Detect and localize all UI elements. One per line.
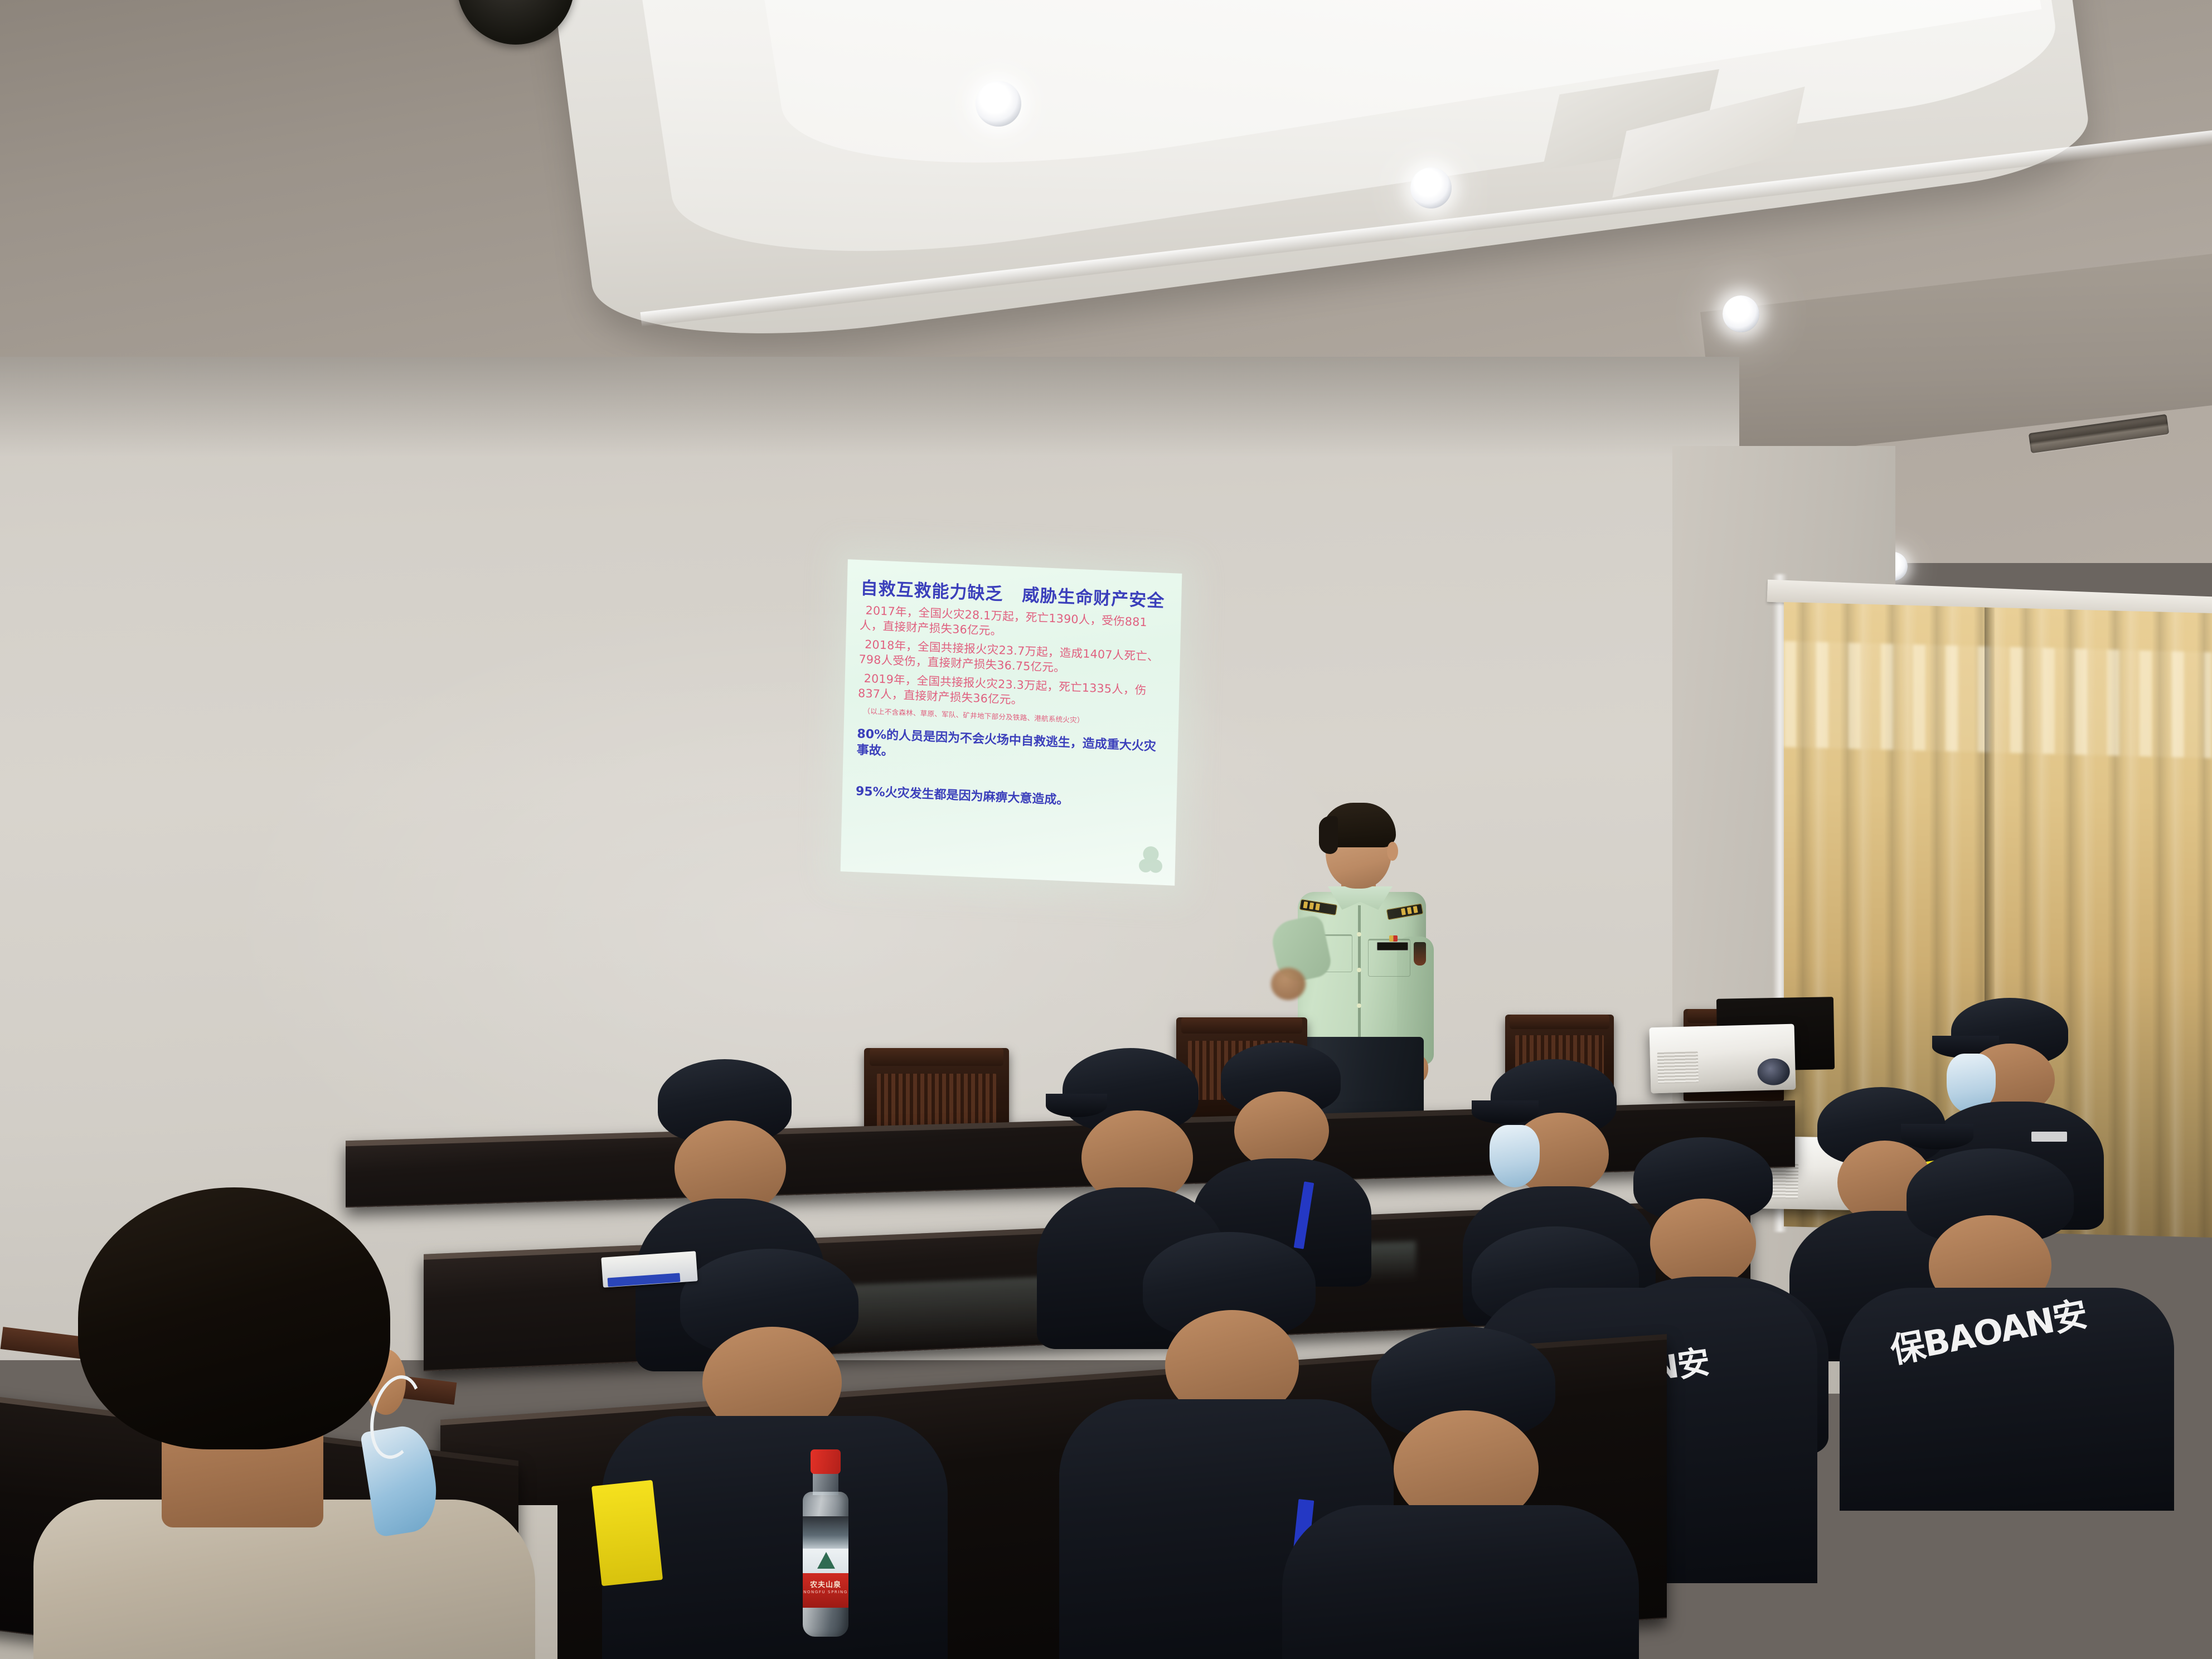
slide-watermark-logo	[1134, 844, 1166, 880]
water-bottle: 农夫山泉 NONGFU SPRING	[796, 1449, 854, 1639]
downlight-icon-1	[976, 81, 1021, 127]
bottle-mountain-logo	[817, 1552, 835, 1569]
cap-brim	[1046, 1094, 1107, 1117]
presenter-ear	[1387, 842, 1398, 861]
presenter-sideburn	[1319, 816, 1338, 854]
attendee-baoan-jacket-center: 保BAOAN安	[1840, 1148, 2174, 1505]
presenter-left-hand-gesturing	[1271, 968, 1306, 1000]
attendee-front-right	[1282, 1327, 1639, 1659]
presenter-shirt-placket	[1358, 905, 1361, 1045]
slide-title-right: 威胁生命财产安全	[1022, 586, 1165, 611]
bottle-brand-cn: 农夫山泉	[803, 1579, 848, 1589]
bottle-cap	[811, 1449, 841, 1474]
face-mask	[1490, 1125, 1540, 1187]
presenter-shoulder-patch	[1414, 942, 1426, 966]
attendee-front-center-left	[602, 1249, 948, 1659]
wall-clock	[457, 0, 574, 45]
cap-brim	[1472, 1100, 1539, 1124]
slide-highlight-80: 80%的人员是因为不会火场中自救逃生，造成重大火灾事故。	[856, 727, 1166, 772]
shoulder-patch	[2031, 1132, 2067, 1142]
lecture-room-photo: 自救互救能力缺乏 威胁生命财产安全 2017年，全国火灾28.1万起，死亡139…	[0, 0, 2212, 1659]
downlight-icon-3	[1723, 295, 1759, 332]
foreground-attendee-hair	[78, 1187, 390, 1449]
head	[1234, 1092, 1329, 1170]
armband	[591, 1480, 663, 1587]
projector-on-back-desk	[1650, 1024, 1796, 1094]
wall-top-shadow	[0, 357, 1739, 457]
cap-brim	[1901, 1124, 1973, 1149]
curtain-highlight	[1784, 641, 2212, 758]
jacket	[1282, 1505, 1639, 1659]
downlight-icon-2	[1410, 167, 1452, 208]
slide-highlight-95: 95%火灾发生都是因为麻痹大意造成。	[856, 781, 1165, 812]
presenter-name-badge	[1377, 942, 1408, 950]
presenter-button-1	[1357, 932, 1361, 937]
slide-body: 2017年，全国火灾28.1万起，死亡1390人，受伤881人，直接财产损失36…	[858, 603, 1169, 714]
bottle-brand-en: NONGFU SPRING	[803, 1590, 848, 1594]
presenter-flag-pin	[1389, 935, 1398, 942]
slide-title-left: 自救互救能力缺乏	[860, 579, 1003, 604]
presenter-button-3	[1357, 1003, 1361, 1008]
presenter-button-2	[1357, 968, 1361, 972]
bottle-neck	[813, 1472, 838, 1495]
bottle-label-top	[803, 1516, 848, 1551]
foreground-attendee	[33, 1187, 535, 1659]
projected-slide: 自救互救能力缺乏 威胁生命财产安全 2017年，全国火灾28.1万起，死亡139…	[841, 559, 1182, 885]
